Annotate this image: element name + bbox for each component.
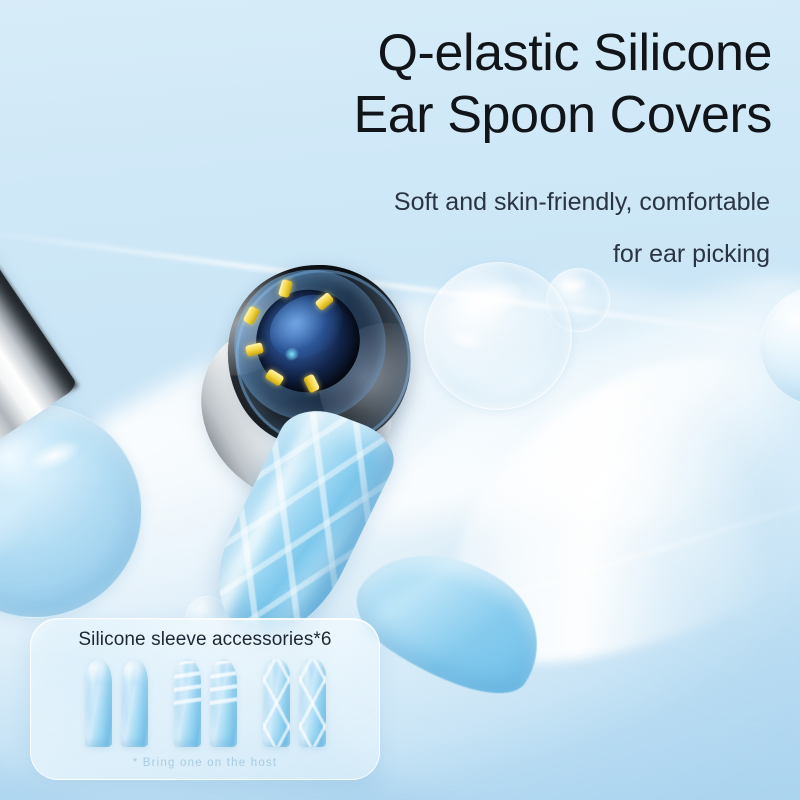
accessory-tip-row	[31, 659, 379, 747]
bubble-sheen	[456, 273, 531, 329]
page-title: Q-elastic Silicone Ear Spoon Covers	[242, 22, 772, 146]
silicone-tip-smooth-1	[85, 659, 112, 747]
shaft-shadow-edge	[0, 0, 78, 396]
silicone-tip-ribbed-1	[174, 659, 201, 747]
device-neck	[169, 275, 433, 539]
bubble-sheen-secondary	[0, 483, 44, 577]
led-light-1	[243, 305, 261, 325]
led-light-6	[278, 279, 293, 298]
device-shaft	[0, 0, 79, 514]
bubble-right-edge	[760, 286, 800, 406]
silicone-tip-lattice-2	[299, 659, 326, 747]
silicone-tip-lattice-1	[263, 659, 290, 747]
tip-group-ribbed	[174, 659, 237, 747]
tip-group-smooth-dome	[85, 659, 148, 747]
accessory-card-title: Silicone sleeve accessories*6	[31, 629, 379, 651]
silicone-tip-ribbed-2	[210, 659, 237, 747]
page-subtitle: Soft and skin-friendly, comfortable for …	[290, 176, 770, 280]
silicone-sleeve-on-tip	[193, 399, 407, 653]
accessory-card-note: * Bring one on the host	[31, 757, 379, 769]
lens-blue-reflection	[259, 283, 355, 371]
camera-lens	[238, 272, 378, 411]
milky-wave-right	[560, 400, 800, 800]
sleeve-lattice-texture	[193, 399, 407, 653]
led-light-5	[314, 292, 334, 311]
bubble-large-center	[424, 262, 572, 410]
product-poster: Q-elastic Silicone Ear Spoon Covers Soft…	[0, 0, 800, 800]
led-light-3	[264, 368, 284, 386]
tip-group-lattice	[263, 659, 326, 747]
wave-edge-line-secondary	[371, 484, 800, 639]
bubble-sheen	[780, 299, 800, 337]
led-light-4	[303, 373, 320, 393]
sleeve-highlight	[201, 402, 333, 625]
lens-specular-spot	[281, 345, 301, 364]
bubble-left-edge	[0, 404, 142, 618]
bubble-sheen	[24, 434, 85, 478]
bubble-sheen-secondary	[446, 325, 488, 356]
silicone-tip-smooth-2	[121, 659, 148, 747]
camera-head-edge-light	[298, 301, 444, 461]
wave-highlight-streak	[398, 310, 800, 707]
accessory-card: Silicone sleeve accessories*6 * Bring on…	[30, 618, 380, 780]
led-light-2	[245, 342, 264, 357]
